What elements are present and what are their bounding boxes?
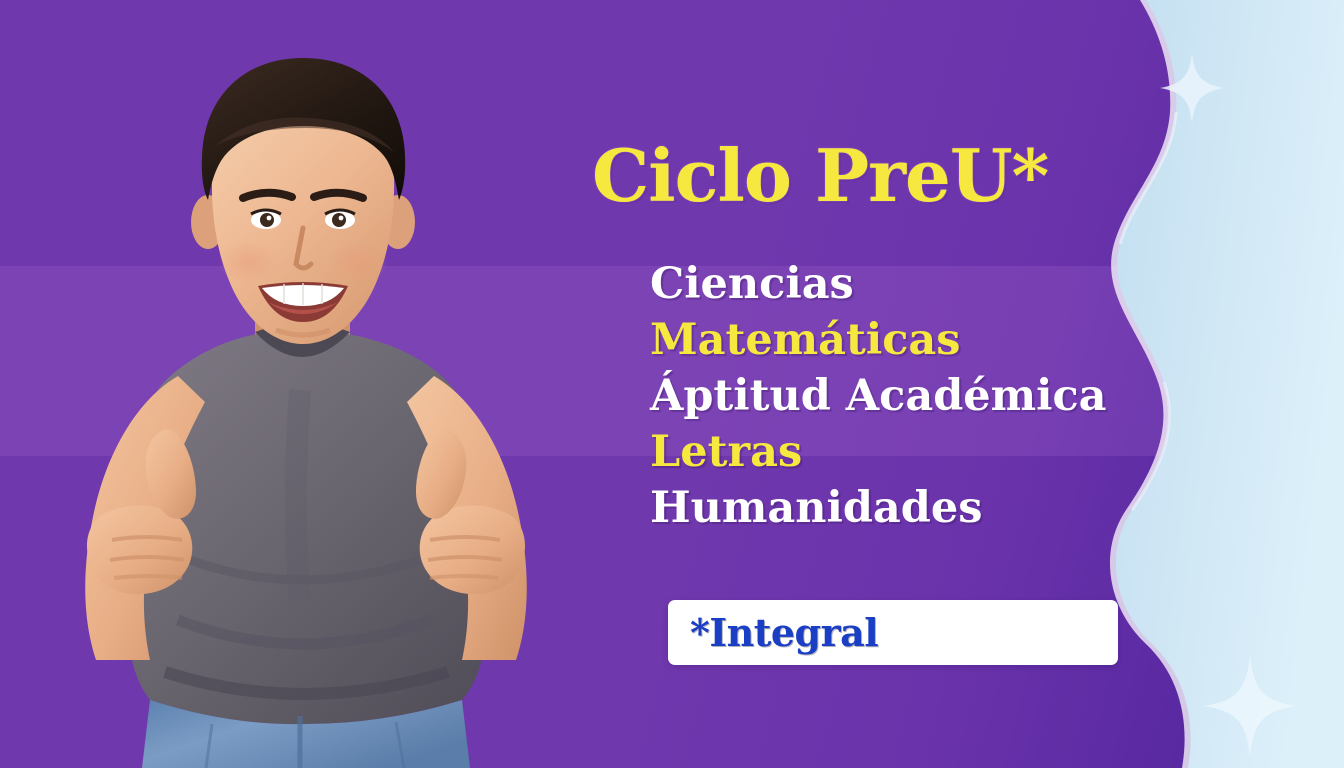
student-photo (0, 0, 660, 768)
thumbs-up-left (87, 429, 196, 594)
integral-callout-box: *Integral (668, 600, 1118, 665)
cloud-decoration (1104, 0, 1344, 768)
thumbs-up-right (416, 429, 525, 594)
subject-item-letras: Letras (650, 424, 1107, 480)
subject-item-aptitud-academica: Áptitud Académica (650, 368, 1107, 424)
subject-item-humanidades: Humanidades (650, 480, 1107, 536)
subject-item-ciencias: Ciencias (650, 256, 1107, 312)
integral-callout-text: *Integral (668, 610, 878, 655)
page-title: Ciclo PreU* (592, 140, 1048, 212)
subject-item-matematicas: Matemáticas (650, 312, 1107, 368)
subject-list: Ciencias Matemáticas Áptitud Académica L… (650, 256, 1107, 536)
promo-banner: Ciclo PreU* Ciencias Matemáticas Áptitud… (0, 0, 1344, 768)
